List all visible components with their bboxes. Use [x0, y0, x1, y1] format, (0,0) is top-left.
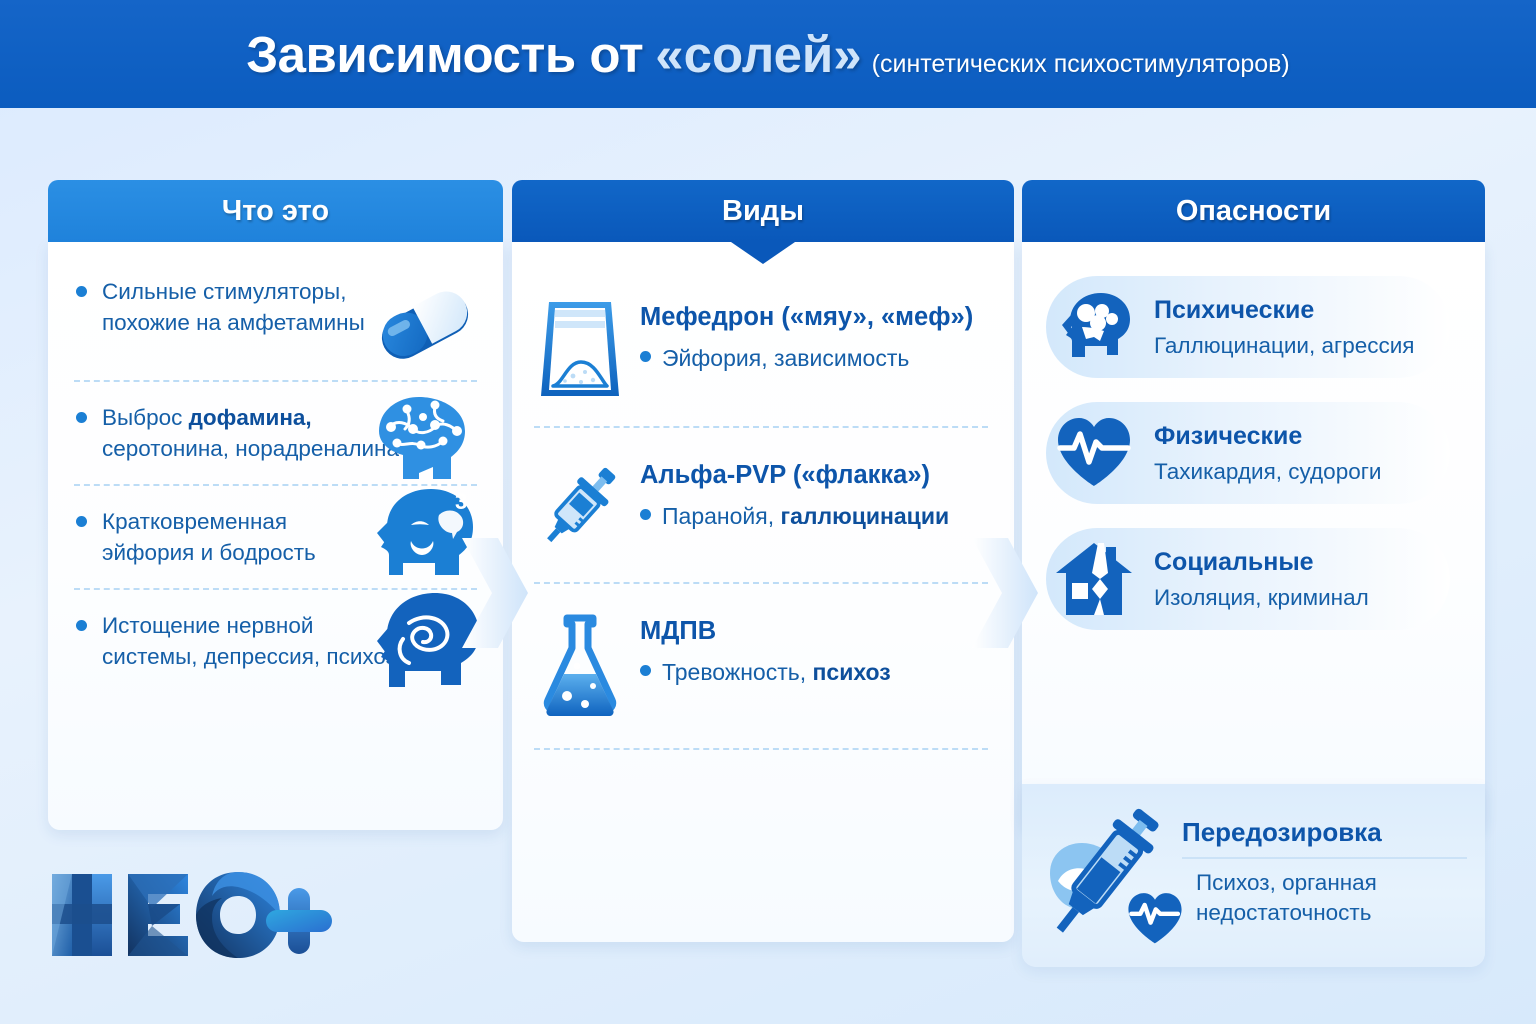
list-item-line1: Кратковременная [102, 509, 287, 534]
type-effects-text: Паранойя, галлюцинации [662, 503, 949, 530]
bullet-icon [76, 286, 87, 297]
list-item: Истощение нервной системы, депрессия, пс… [74, 588, 477, 692]
powder-bag-icon [534, 296, 626, 400]
list-item-text: Кратковременная эйфория и бодрость [74, 506, 404, 568]
bullet-icon [76, 620, 87, 631]
list-item-text: Физические Тахикардия, судороги [1154, 422, 1382, 485]
infographic-board: Что это Сильные стимуляторы, похожие на … [0, 108, 1536, 1024]
overdose-text: Передозировка Психоз, органная недостато… [1182, 817, 1467, 933]
danger-title: Физические [1154, 422, 1382, 451]
column-body-dangers: Психические Галлюцинации, агрессия Физич… [1022, 242, 1485, 830]
broken-house-icon [1048, 533, 1140, 625]
bullet-icon [76, 412, 87, 423]
dangers-list: Психические Галлюцинации, агрессия Физич… [1022, 242, 1485, 660]
type-effects: Тревожность, психоз [640, 659, 988, 686]
column-header-what-is-it: Что это [48, 180, 503, 242]
svg-text:3: 3 [455, 489, 467, 514]
arrow-col1-to-col2 [462, 528, 532, 663]
danger-title: Психические [1154, 296, 1415, 325]
list-item: Физические Тахикардия, судороги [1042, 390, 1465, 516]
danger-detail: Изоляция, криминал [1154, 585, 1369, 611]
list-item: Альфа-PVP («флакка») Паранойя, галлюцина… [534, 426, 988, 582]
list-item-line1: Сильные стимуляторы, [102, 279, 346, 304]
overdose-detail-text: Психоз, органная недостаточность [1196, 868, 1377, 927]
page-title-quoted: «солей» [655, 25, 861, 84]
column-header-types: Виды [512, 180, 1014, 242]
page-header-banner: Зависимость от «солей» (синтетических пс… [0, 0, 1536, 108]
overdose-panel: Передозировка Психоз, органная недостато… [1022, 784, 1485, 967]
list-item-text: Альфа-PVP («флакка») Паранойя, галлюцина… [640, 454, 988, 530]
head-euphoria-icon: 3 [359, 481, 479, 590]
brand-logo [48, 868, 338, 969]
type-effects-text: Тревожность, психоз [662, 659, 891, 686]
list-item: Кратковременная эйфория и бодрость [74, 484, 477, 588]
list-item: Сильные стимуляторы, похожие на амфетами… [74, 276, 477, 380]
bullet-icon [640, 509, 651, 520]
type-name: Альфа-PVP («флакка») [640, 460, 988, 491]
list-item-line1: Выброс дофамина, [102, 405, 312, 430]
list-item: Выброс дофамина, серотонина, норадренали… [74, 380, 477, 484]
heart-pulse-icon [1048, 407, 1140, 499]
list-item-text: Психические Галлюцинации, агрессия [1154, 296, 1415, 359]
column-types: Виды [512, 180, 1014, 942]
list-item-text: Сильные стимуляторы, похожие на амфетами… [74, 276, 404, 338]
list-item-text: Социальные Изоляция, криминал [1154, 548, 1369, 611]
flask-icon [534, 610, 626, 716]
list-item: МДПВ Тревожность, психоз [534, 582, 988, 742]
danger-detail: Тахикардия, судороги [1154, 459, 1382, 485]
column-what-is-it: Что это Сильные стимуляторы, похожие на … [48, 180, 503, 830]
pill-icon [371, 289, 479, 368]
type-effects: Эйфория, зависимость [640, 345, 988, 372]
column-dangers: Опасности [1022, 180, 1485, 830]
list-item-line2: серотонина, норадреналина [102, 436, 399, 461]
type-effects-text: Эйфория, зависимость [662, 345, 909, 372]
list-item-text: МДПВ Тревожность, психоз [640, 610, 988, 686]
heart-pulse-icon [1124, 890, 1186, 955]
column-body-what-is-it: Сильные стимуляторы, похожие на амфетами… [48, 242, 503, 830]
type-name: МДПВ [640, 616, 988, 647]
list-item: Социальные Изоляция, криминал [1042, 516, 1465, 642]
logo-letter-o [196, 872, 280, 958]
column-header-dangers: Опасности [1022, 180, 1485, 242]
divider [534, 748, 988, 750]
page-title-subtitle: (синтетических психостимуляторов) [872, 50, 1290, 79]
type-name: Мефедрон («мяу», «меф») [640, 302, 988, 333]
list-item-line2: эйфория и бодрость [102, 540, 316, 565]
overdose-title: Передозировка [1182, 817, 1467, 859]
list-item: Психические Галлюцинации, агрессия [1042, 264, 1465, 390]
head-brain-icon [1048, 281, 1140, 373]
page-title: Зависимость от «солей» (синтетических пс… [246, 25, 1290, 84]
column-body-types: Мефедрон («мяу», «меф») Эйфория, зависим… [512, 242, 1014, 942]
danger-title: Социальные [1154, 548, 1369, 577]
header-notch [731, 242, 795, 262]
brain-network-icon [363, 385, 481, 490]
list-item-emphasis: дофамина, [189, 405, 312, 430]
list-item: Мефедрон («мяу», «меф») Эйфория, зависим… [534, 282, 988, 426]
arrow-col2-to-col3 [972, 528, 1042, 663]
syringe-icon [534, 454, 626, 556]
danger-detail: Галлюцинации, агрессия [1154, 333, 1415, 359]
bullet-icon [640, 351, 651, 362]
type-effects: Паранойя, галлюцинации [640, 503, 988, 530]
bullet-icon [640, 665, 651, 676]
list-item-line1: Истощение нервной [102, 613, 313, 638]
list-item-text: Мефедрон («мяу», «меф») Эйфория, зависим… [640, 296, 988, 372]
bullet-icon [76, 516, 87, 527]
list-item-line2: похожие на амфетамины [102, 310, 365, 335]
overdose-detail: Психоз, органная недостаточность [1182, 868, 1467, 933]
page-title-main: Зависимость от [246, 25, 643, 84]
logo-letter-n [52, 874, 112, 956]
logo-letter-e [128, 874, 188, 956]
